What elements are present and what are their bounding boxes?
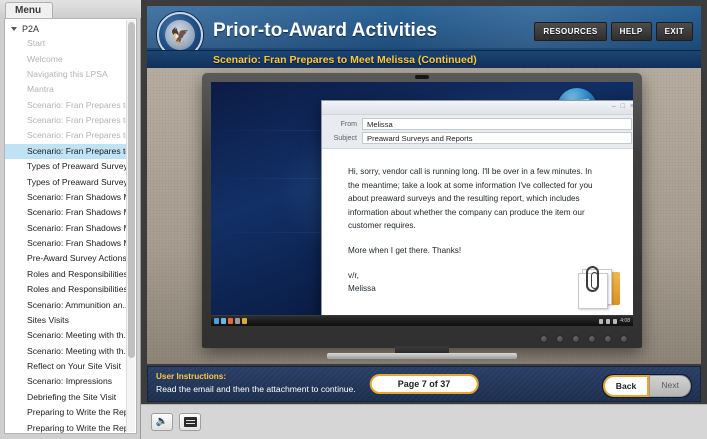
- monitor-settings-button[interactable]: [620, 335, 628, 343]
- tab-menu[interactable]: Menu: [5, 2, 53, 18]
- menu-root-label: P2A: [22, 24, 39, 34]
- menu-item[interactable]: Roles and Responsibilities: [5, 267, 126, 282]
- subject-label: Subject: [326, 135, 362, 142]
- user-instructions-text: Read the email and then the attachment t…: [156, 384, 356, 394]
- from-row: From Melissa: [326, 118, 632, 130]
- os-taskbar: 4:08: [211, 315, 633, 326]
- email-body: Hi, sorry, vendor call is running long. …: [322, 149, 633, 326]
- taskbar-app-icon[interactable]: [214, 318, 219, 324]
- office-scene: ...mail – □ × Fr: [147, 68, 701, 364]
- chevron-down-icon: [11, 27, 17, 31]
- systray-icon[interactable]: [613, 319, 617, 324]
- monitor-power-button[interactable]: [540, 335, 548, 343]
- menu-item[interactable]: Mantra: [5, 82, 126, 97]
- taskbar-clock: 4:08: [620, 318, 630, 324]
- menu-scroll-content: P2A StartWelcomeNavigating this LPSAMant…: [5, 19, 126, 433]
- menu-root-node-p2a[interactable]: P2A: [5, 23, 126, 36]
- monitor-source-button[interactable]: [572, 335, 580, 343]
- menu-item[interactable]: Scenario: Fran Prepares to...: [5, 144, 126, 159]
- resources-button[interactable]: RESOURCES: [534, 22, 606, 41]
- scenario-subtitle: Scenario: Fran Prepares to Meet Melissa …: [213, 54, 477, 66]
- scenario-bar: Scenario: Fran Prepares to Meet Melissa …: [147, 50, 701, 68]
- webcam-icon: [415, 75, 429, 79]
- menu-scrollbar-thumb[interactable]: [128, 22, 135, 358]
- email-paragraph-1: Hi, sorry, vendor call is running long. …: [348, 165, 600, 233]
- menu-item[interactable]: Types of Preaward Surveys: [5, 159, 126, 174]
- menu-scrollbar[interactable]: [126, 20, 135, 432]
- systray-icon[interactable]: [606, 319, 610, 324]
- subject-row: Subject Preaward Surveys and Reports: [326, 132, 632, 144]
- taskbar-systray: 4:08: [599, 318, 630, 324]
- window-controls: – □ ×: [612, 103, 633, 110]
- menu-item[interactable]: Roles and Responsibilities ...: [5, 282, 126, 297]
- next-button[interactable]: Next: [649, 375, 691, 397]
- audio-toggle-button[interactable]: 🔈: [151, 413, 173, 431]
- audio-speaker-icon: 🔈: [156, 417, 168, 427]
- subject-field[interactable]: Preaward Surveys and Reports: [362, 132, 632, 144]
- monitor-minus-button[interactable]: [588, 335, 596, 343]
- exit-button[interactable]: EXIT: [656, 22, 693, 41]
- taskbar-app-icon[interactable]: [228, 318, 233, 324]
- menu-item[interactable]: Welcome: [5, 51, 126, 66]
- menu-item[interactable]: Scenario: Meeting with th...: [5, 344, 126, 359]
- menu-item[interactable]: Pre-Award Survey Actions: [5, 251, 126, 266]
- monitor-screen: ...mail – □ × Fr: [211, 82, 633, 326]
- player-control-bar: 🔈: [141, 404, 707, 439]
- taskbar-app-icon[interactable]: [242, 318, 247, 324]
- email-paragraph-2: More when I get there. Thanks!: [348, 244, 600, 258]
- menu-item[interactable]: Scenario: Fran Shadows M...: [5, 236, 126, 251]
- course-header: 🦅 Prior-to-Award Activities RESOURCES HE…: [147, 6, 701, 68]
- paperclip-icon: [586, 266, 599, 292]
- menu-item[interactable]: Sites Visits: [5, 313, 126, 328]
- user-instructions-title: User Instructions:: [156, 372, 226, 381]
- from-field[interactable]: Melissa: [362, 118, 632, 130]
- menu-item[interactable]: Navigating this LPSA: [5, 67, 126, 82]
- monitor-plus-button[interactable]: [604, 335, 612, 343]
- menu-item[interactable]: Types of Preaward Survey...: [5, 174, 126, 189]
- email-signoff-1: v/r,: [348, 269, 600, 283]
- email-signoff-2: Melissa: [348, 282, 600, 296]
- taskbar-app-icon[interactable]: [221, 318, 226, 324]
- computer-monitor: ...mail – □ × Fr: [202, 73, 642, 348]
- course-menu-panel: Menu P2A StartWelcomeNavigating this LPS…: [0, 0, 141, 439]
- page-indicator: Page 7 of 37: [370, 374, 479, 394]
- taskbar-quicklaunch: [214, 318, 247, 324]
- email-titlebar[interactable]: – □ ×: [322, 101, 633, 115]
- menu-item[interactable]: Reflect on Your Site Visit: [5, 359, 126, 374]
- monitor-stand-base: [327, 353, 517, 359]
- course-stage: 🦅 Prior-to-Award Activities RESOURCES HE…: [141, 0, 707, 439]
- menu-item[interactable]: Preparing to Write the Rep...: [5, 405, 126, 420]
- systray-icon[interactable]: [599, 319, 603, 324]
- menu-list: P2A StartWelcomeNavigating this LPSAMant…: [4, 18, 137, 434]
- maximize-icon[interactable]: □: [621, 103, 625, 110]
- menu-item[interactable]: Scenario: Ammunition an...: [5, 297, 126, 312]
- close-icon[interactable]: ×: [630, 103, 633, 110]
- help-button[interactable]: HELP: [611, 22, 652, 41]
- menu-item[interactable]: Scenario: Fran Prepares to...: [5, 113, 126, 128]
- monitor-control-buttons: [540, 335, 628, 343]
- header-button-group: RESOURCES HELP EXIT: [534, 22, 693, 41]
- menu-item[interactable]: Start: [5, 36, 126, 51]
- nav-button-group: Back Next: [602, 374, 692, 398]
- attachment-icon[interactable]: [574, 267, 620, 311]
- menu-item[interactable]: Scenario: Impressions: [5, 374, 126, 389]
- menu-item[interactable]: Scenario: Fran Prepares to...: [5, 128, 126, 143]
- monitor-menu-button[interactable]: [556, 335, 564, 343]
- menu-item[interactable]: Debriefing the Site Visit: [5, 390, 126, 405]
- menu-item[interactable]: Scenario: Meeting with th...: [5, 328, 126, 343]
- page-title: Prior-to-Award Activities: [213, 20, 437, 42]
- menu-item[interactable]: Preparing to Write the Rep...: [5, 420, 126, 434]
- menu-item[interactable]: Scenario: Fran Shadows M...: [5, 190, 126, 205]
- closed-caption-icon: [184, 417, 197, 427]
- email-window[interactable]: – □ × From Melissa Subject: [321, 100, 633, 326]
- navigation-bar: User Instructions: Read the email and th…: [147, 366, 701, 402]
- eagle-icon: 🦅: [171, 28, 190, 43]
- from-label: From: [326, 121, 362, 128]
- back-button[interactable]: Back: [603, 375, 650, 397]
- closed-caption-button[interactable]: [179, 413, 201, 431]
- menu-item[interactable]: Scenario: Fran Shadows M...: [5, 221, 126, 236]
- menu-items-container: StartWelcomeNavigating this LPSAMantraSc…: [5, 36, 126, 434]
- minimize-icon[interactable]: –: [612, 103, 616, 110]
- menu-item[interactable]: Scenario: Fran Prepares to...: [5, 98, 126, 113]
- elearning-course-player: Menu P2A StartWelcomeNavigating this LPS…: [0, 0, 707, 439]
- menu-item[interactable]: Scenario: Fran Shadows M...: [5, 205, 126, 220]
- taskbar-app-icon[interactable]: [235, 318, 240, 324]
- menu-tab-row: Menu: [0, 0, 141, 18]
- email-header-fields: From Melissa Subject Preaward Surveys an…: [322, 115, 633, 149]
